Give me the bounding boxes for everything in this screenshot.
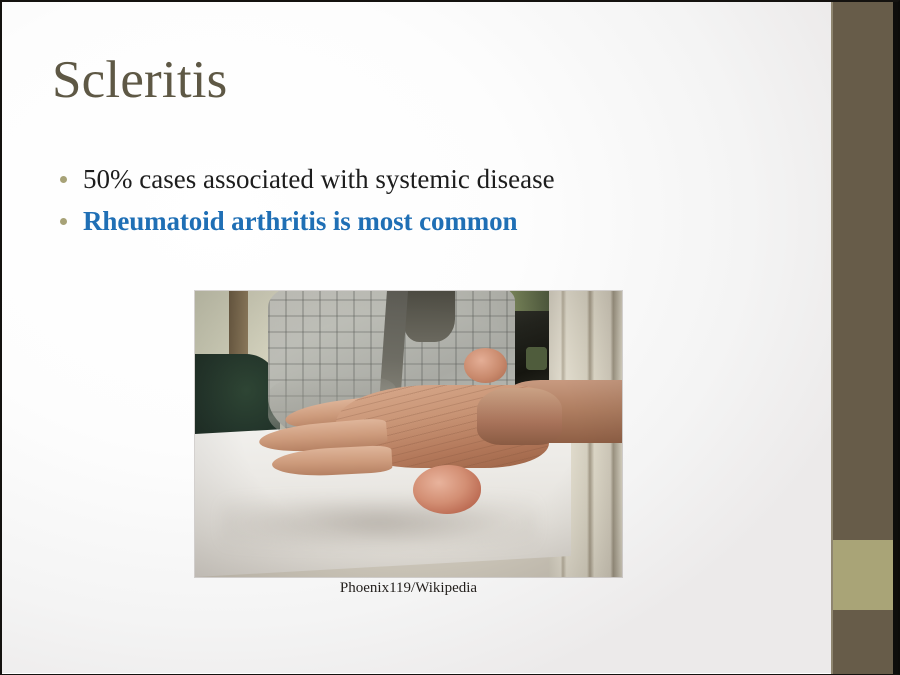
photo-vignette <box>195 291 622 577</box>
sidebar-accent-block <box>833 540 893 610</box>
clinical-photo <box>195 291 622 577</box>
image-caption: Phoenix119/Wikipedia <box>195 580 622 597</box>
bullet-dot-icon <box>60 176 67 183</box>
page-title: Scleritis <box>52 52 228 109</box>
presentation-slide: Scleritis 50% cases associated with syst… <box>0 0 900 675</box>
list-item: 50% cases associated with systemic disea… <box>60 163 760 196</box>
bullet-list: 50% cases associated with systemic disea… <box>60 163 760 247</box>
bullet-dot-icon <box>60 218 67 225</box>
bullet-text: 50% cases associated with systemic disea… <box>83 163 555 196</box>
slide-right-edge <box>893 0 900 675</box>
list-item: Rheumatoid arthritis is most common <box>60 205 760 238</box>
bullet-text-highlighted: Rheumatoid arthritis is most common <box>83 205 517 238</box>
